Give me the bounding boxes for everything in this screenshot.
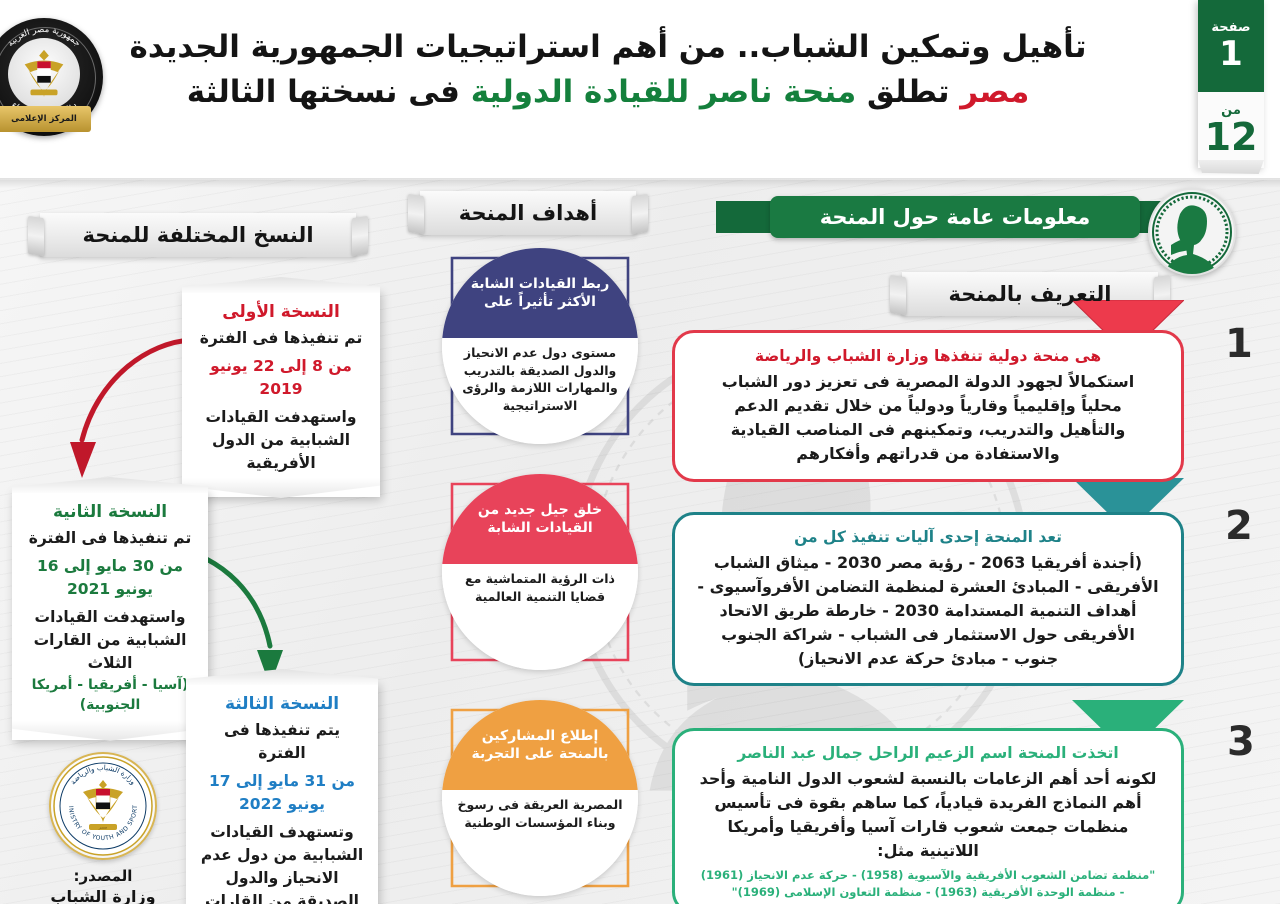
goal-head-1: ربط القيادات الشابة الأكثر تأثيراً على xyxy=(442,248,638,338)
page-badge-bottom: من 12 xyxy=(1198,92,1264,168)
header-shadow xyxy=(0,178,1280,188)
banner-versions: النسخ المختلفة للمنحة xyxy=(40,213,356,257)
ministry-of-youth-and-sports-logo-icon: وزارة الشباب والرياضة MINISTRY OF YOUTH … xyxy=(49,752,157,860)
general-info-pill: معلومات عامة حول المنحة xyxy=(770,196,1140,238)
goal-head-text-1: ربط القيادات الشابة الأكثر تأثيراً على xyxy=(456,275,624,311)
title-fellowship: منحة ناصر للقيادة الدولية xyxy=(471,74,857,110)
card-number-2: 2 xyxy=(1225,506,1253,546)
page-badge-top: صفحة 1 xyxy=(1198,0,1264,92)
goal-head-text-3: إطلاع المشاركين بالمنحة على التجربة xyxy=(456,727,624,763)
goal-disc-2: خلق جيل جديد من القيادات الشابة ذات الرؤ… xyxy=(442,474,638,670)
banner-goals-label: أهداف المنحة xyxy=(459,201,597,225)
logo-ribbon: المركز الإعلامى xyxy=(0,106,91,132)
version-note-3: النسخة الثالثة يتم تنفيذها فى الفترة من … xyxy=(186,682,378,904)
note-top-fold-1 xyxy=(182,277,380,293)
svg-text:مصر: مصر xyxy=(98,826,108,831)
goal-head-2: خلق جيل جديد من القيادات الشابة xyxy=(442,474,638,564)
page-title: تأهيل وتمكين الشباب.. من أهم استراتيجيات… xyxy=(108,28,1108,112)
logo-ribbon-label: المركز الإعلامى xyxy=(11,114,77,124)
version-3-heading: النسخة الثالثة xyxy=(198,694,366,714)
info-card-3-note: "منظمة تضامن الشعوب الأفريقية والآسيوية … xyxy=(697,867,1159,902)
version-2-heading: النسخة الثانية xyxy=(25,502,195,522)
info-card-2-title: تعد المنحة إحدى آليات تنفيذ كل من xyxy=(697,527,1159,548)
goal-body-1: مستوى دول عدم الانحياز والدول الصديقة با… xyxy=(442,338,638,444)
general-info-label: معلومات عامة حول المنحة xyxy=(820,205,1091,229)
banner-versions-label: النسخ المختلفة للمنحة xyxy=(82,223,313,247)
version-3-dates: من 31 مايو إلى 17 يونيو 2022 xyxy=(198,770,366,816)
goal-head-3: إطلاع المشاركين بالمنحة على التجربة xyxy=(442,700,638,790)
version-2-body-pre: تم تنفيذها فى الفترة xyxy=(25,527,195,550)
banner-definition-label: التعريف بالمنحة xyxy=(949,282,1112,306)
note-bottom-fold-1 xyxy=(182,478,380,498)
source-value: وزارة الشباب والرياضة xyxy=(28,886,178,904)
page-total: 12 xyxy=(1205,118,1258,156)
goal-body-text-3: المصرية العريقة فى رسوخ وبناء المؤسسات ا… xyxy=(454,796,626,831)
title-line-2: مصر تطلق منحة ناصر للقيادة الدولية فى نس… xyxy=(108,73,1108,112)
goal-circle-2: خلق جيل جديد من القيادات الشابة ذات الرؤ… xyxy=(442,474,638,670)
info-card-1-body: استكمالاً لجهود الدولة المصرية فى تعزيز … xyxy=(699,370,1157,466)
version-3-body-post: وتستهدف القيادات الشبابية من دول عدم الا… xyxy=(198,821,366,904)
info-card-3: اتخذت المنحة اسم الزعيم الراحل جمال عبد … xyxy=(672,728,1184,904)
banner-goals: أهداف المنحة xyxy=(420,191,636,235)
goal-circle-3: إطلاع المشاركين بالمنحة على التجربة المص… xyxy=(442,700,638,896)
version-3-body-pre: يتم تنفيذها فى الفترة xyxy=(198,719,366,765)
title-line-1: تأهيل وتمكين الشباب.. من أهم استراتيجيات… xyxy=(108,28,1108,67)
version-1-body-post: واستهدفت القيادات الشبابية من الدول الأف… xyxy=(195,406,367,475)
info-card-2-body: (أجندة أفريقيا 2063 - رؤية مصر 2030 - مي… xyxy=(697,551,1159,671)
card-number-3: 3 xyxy=(1227,722,1255,762)
source-block: وزارة الشباب والرياضة MINISTRY OF YOUTH … xyxy=(28,752,178,904)
version-note-2: النسخة الثانية تم تنفيذها فى الفترة من 3… xyxy=(12,490,208,740)
version-1-body-pre: تم تنفيذها فى الفترة xyxy=(195,327,367,350)
info-card-3-body: لكونه أحد أهم الزعامات بالنسبة لشعوب الد… xyxy=(697,767,1159,863)
version-note-1: النسخة الأولى تم تنفيذها فى الفترة من 8 … xyxy=(182,290,380,497)
info-card-2: تعد المنحة إحدى آليات تنفيذ كل من (أجندة… xyxy=(672,512,1184,686)
note-bottom-fold-2 xyxy=(12,721,208,741)
eagle-emblem-icon xyxy=(8,38,80,110)
version-2-dates: من 30 مايو إلى 16 يونيو 2021 xyxy=(25,555,195,601)
info-card-3-title: اتخذت المنحة اسم الزعيم الراحل جمال عبد … xyxy=(697,743,1159,764)
info-card-1-title: هى منحة دولية تنفذها وزارة الشباب والريا… xyxy=(699,346,1157,367)
goal-head-text-2: خلق جيل جديد من القيادات الشابة xyxy=(456,501,624,537)
goal-body-2: ذات الرؤية المتماشية مع قضايا التنمية ال… xyxy=(442,564,638,670)
page-label: صفحة xyxy=(1211,21,1250,34)
page-badge-fold xyxy=(1198,160,1264,174)
version-1-heading: النسخة الأولى xyxy=(195,302,367,322)
goal-circle-1: ربط القيادات الشابة الأكثر تأثيراً على م… xyxy=(442,248,638,444)
goal-body-3: المصرية العريقة فى رسوخ وبناء المؤسسات ا… xyxy=(442,790,638,896)
version-1-dates: من 8 إلى 22 يونيو 2019 xyxy=(195,355,367,401)
title-third-edition: فى نسختها الثالثة xyxy=(187,74,460,110)
goal-body-text-2: ذات الرؤية المتماشية مع قضايا التنمية ال… xyxy=(454,570,626,605)
source-label: المصدر: xyxy=(28,866,178,886)
cabinet-media-center-logo: جمهورية مصر العربية رئاسة مجلس الوزراء xyxy=(0,18,105,158)
goal-body-text-1: مستوى دول عدم الانحياز والدول الصديقة با… xyxy=(454,344,626,414)
goal-disc-3: إطلاع المشاركين بالمنحة على التجربة المص… xyxy=(442,700,638,896)
version-2-regions: (آسيا - أفريقيا - أمريكا الجنوبية) xyxy=(25,676,195,716)
goal-disc-1: ربط القيادات الشابة الأكثر تأثيراً على م… xyxy=(442,248,638,444)
version-2-body-post: واستهدفت القيادات الشبابية من القارات ال… xyxy=(25,606,195,675)
page-number: 1 xyxy=(1219,37,1243,71)
card-number-1: 1 xyxy=(1225,324,1253,364)
info-card-1: هى منحة دولية تنفذها وزارة الشباب والريا… xyxy=(672,330,1184,482)
infographic-canvas: جمهورية مصر العربية رئاسة مجلس الوزراء xyxy=(0,0,1280,904)
page-badge: صفحة 1 من 12 xyxy=(1198,0,1264,168)
title-egypt: مصر xyxy=(960,74,1029,110)
nasser-medallion-icon xyxy=(1148,188,1236,276)
logo-circle: جمهورية مصر العربية رئاسة مجلس الوزراء xyxy=(0,18,103,136)
title-launches: تطلق xyxy=(867,74,949,110)
